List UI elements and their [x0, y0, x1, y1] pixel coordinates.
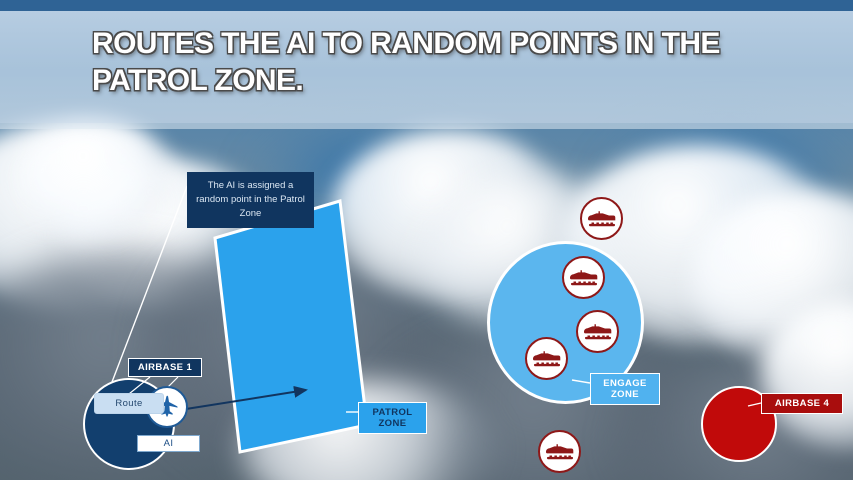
- tank-marker-inner-1[interactable]: [562, 256, 605, 299]
- title-band-edge: [0, 123, 853, 129]
- tank-marker-north[interactable]: [580, 197, 623, 240]
- route-label: Route: [94, 393, 164, 414]
- top-accent-bar: [0, 0, 853, 11]
- slide-canvas: The AI is assigned a random point in the…: [0, 0, 853, 480]
- tank-marker-inner-3[interactable]: [525, 337, 568, 380]
- tank-icon: [570, 267, 598, 289]
- patrol-zone-label: PATROL ZONE: [358, 402, 427, 434]
- tank-marker-south[interactable]: [538, 430, 581, 473]
- engage-zone-label: ENGAGE ZONE: [590, 373, 660, 405]
- tank-icon: [533, 348, 561, 370]
- airbase-4-label: AIRBASE 4: [761, 393, 843, 414]
- tank-icon: [584, 321, 612, 343]
- tank-icon: [546, 441, 574, 463]
- cloud: [20, 120, 170, 240]
- tank-marker-inner-2[interactable]: [576, 310, 619, 353]
- callout-box: The AI is assigned a random point in the…: [187, 172, 314, 228]
- ai-label: AI: [137, 435, 200, 452]
- tank-icon: [588, 208, 616, 230]
- slide-title: ROUTES THE AI TO RANDOM POINTS IN THE PA…: [92, 26, 782, 99]
- airbase-1-label: AIRBASE 1: [128, 358, 202, 377]
